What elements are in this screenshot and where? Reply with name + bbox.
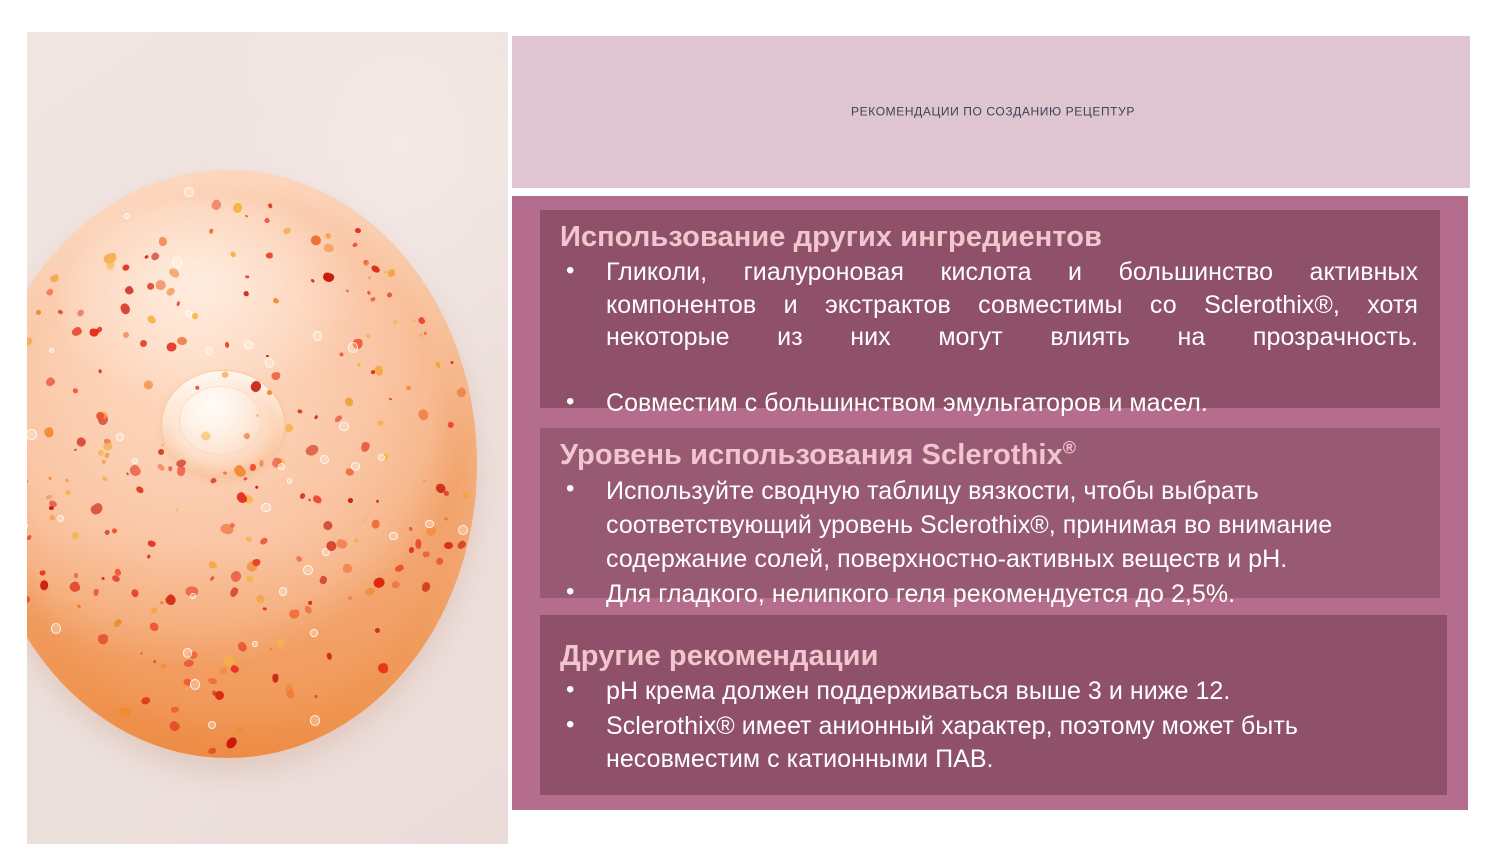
card-bullet-list: Гликоли, гиалуроновая кислота и большинс… — [560, 256, 1422, 420]
gel-speck — [111, 527, 118, 533]
gel-microbubble — [132, 458, 138, 464]
gel-speck — [272, 674, 278, 683]
card-heading-text: Уровень использования Sclerothix — [560, 439, 1063, 471]
gel-speck — [462, 492, 470, 499]
card-heading-text: Другие рекомендации — [560, 640, 879, 672]
gel-microbubble — [172, 257, 182, 267]
gel-microbubble — [244, 341, 253, 350]
list-item: Sclerothix® имеет анионный характер, поэ… — [560, 710, 1429, 777]
gel-microbubble — [261, 503, 270, 512]
gel-center-bubble-inner — [179, 386, 262, 455]
gel-microbubble — [278, 463, 285, 470]
gel-microbubble — [310, 629, 318, 637]
gel-speck — [39, 580, 48, 590]
card-heading: Использование других ингредиентов — [560, 220, 1422, 254]
gel-microbubble — [208, 721, 216, 729]
gel-microbubble — [348, 342, 358, 352]
card-heading-text: Использование других ингредиентов — [560, 221, 1102, 253]
gel-speck — [444, 542, 453, 549]
list-item: Совместим с большинством эмульгаторов и … — [560, 387, 1422, 420]
gel-speck — [74, 449, 77, 451]
gel-microbubble — [184, 187, 194, 197]
gel-speck — [147, 283, 154, 290]
registered-mark: ® — [1063, 437, 1076, 457]
gel-microbubble — [351, 462, 360, 471]
gel-speck — [95, 411, 104, 420]
gel-speck — [422, 479, 425, 482]
gel-speck — [246, 275, 250, 278]
gel-speck — [259, 459, 264, 466]
gel-microbubble — [124, 213, 130, 219]
content-panel: Использование других ингредиентов Гликол… — [512, 196, 1468, 810]
slide-root: РЕКОМЕНДАЦИИ ПО СОЗДАНИЮ РЕЦЕПТУР Исполь… — [0, 0, 1500, 844]
gel-microbubble — [116, 433, 124, 441]
gel-microbubble — [27, 429, 37, 440]
gel-microbubble — [425, 520, 434, 529]
list-item: Гликоли, гиалуроновая кислота и большинс… — [560, 256, 1422, 386]
gel-microbubble — [313, 331, 322, 340]
gel-microbubble — [49, 348, 54, 353]
slide-title-bar: РЕКОМЕНДАЦИИ ПО СОЗДАНИЮ РЕЦЕПТУР — [512, 36, 1470, 188]
gel-microbubble — [389, 532, 398, 541]
gel-microbubble — [339, 422, 349, 432]
card-bullet-list: pH крема должен поддерживаться выше 3 и … — [560, 675, 1429, 777]
card-usage-level: Уровень использования Sclerothix® Исполь… — [540, 428, 1440, 598]
card-heading: Другие рекомендации — [560, 639, 1429, 673]
list-item: pH крема должен поддерживаться выше 3 и … — [560, 675, 1429, 709]
gel-microbubble — [190, 679, 200, 689]
gel-speck — [424, 332, 427, 335]
gel-microbubble — [378, 454, 385, 461]
gel-speck — [224, 341, 229, 348]
page-title: РЕКОМЕНДАЦИИ ПО СОЗДАНИЮ РЕЦЕПТУР — [540, 105, 1446, 118]
gel-speck — [155, 280, 165, 290]
gel-speck — [354, 227, 361, 233]
gel-microbubble — [310, 715, 321, 726]
card-bullet-list: Используйте сводную таблицу вязкости, чт… — [560, 474, 1422, 611]
card-ingredients: Использование других ингредиентов Гликол… — [540, 210, 1440, 408]
list-item: Для гладкого, нелипкого геля рекомендует… — [560, 577, 1422, 611]
gel-speck — [408, 547, 413, 553]
gel-speck — [74, 573, 78, 577]
card-heading: Уровень использования Sclerothix® — [560, 438, 1422, 472]
product-photo — [27, 32, 508, 844]
list-item: Используйте сводную таблицу вязкости, чт… — [560, 474, 1422, 576]
gel-speck — [348, 497, 353, 502]
card-other-recommendations: Другие рекомендации pH крема должен подд… — [540, 615, 1447, 795]
gel-microbubble — [279, 587, 288, 596]
gel-microbubble — [252, 641, 258, 647]
gel-speck — [221, 371, 229, 378]
gel-microbubble — [303, 565, 313, 575]
gel-speck — [185, 687, 188, 690]
gel-microbubble — [287, 478, 293, 484]
gel-speck — [377, 662, 387, 673]
gel-microbubble — [183, 648, 193, 658]
